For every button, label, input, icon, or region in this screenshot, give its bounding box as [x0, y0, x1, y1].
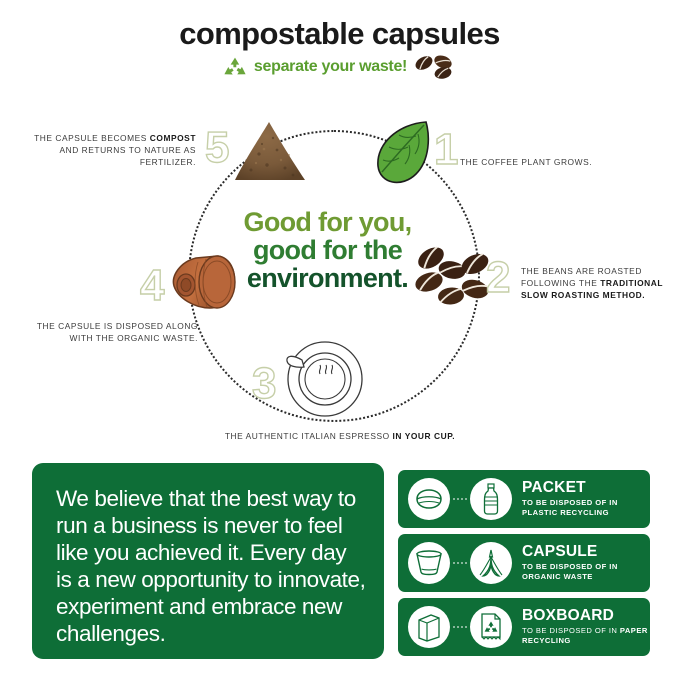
box-icon: [408, 606, 450, 648]
quote-card: We believe that the best way to run a bu…: [32, 463, 384, 659]
disposal-text-boxboard: BOXBOARD TO BE DISPOSED OF IN PAPER RECY…: [522, 608, 650, 646]
disposal-title: BOXBOARD: [522, 608, 650, 624]
header-subtitle: separate your waste!: [254, 58, 407, 76]
disposal-subtitle: TO BE DISPOSED OF IN PLASTIC RECYCLING: [522, 498, 618, 518]
header: compostable capsules separate your waste…: [0, 18, 679, 80]
disposal-icons-packet: [408, 478, 512, 520]
step-5-caption-pre: THE CAPSULE BECOMES: [34, 133, 150, 143]
step-4-caption: THE CAPSULE IS DISPOSED ALONG WITH THE O…: [18, 320, 198, 344]
step-5-caption-bold: COMPOST: [150, 133, 196, 143]
quote-text: We believe that the best way to run a bu…: [56, 485, 366, 647]
disposal-subtitle-line2: PLASTIC RECYCLING: [522, 508, 609, 517]
step-number-5: 5: [205, 126, 229, 170]
recycle-icon: [222, 56, 248, 78]
disposal-title: PACKET: [522, 480, 618, 496]
disposal-icons-capsule: [408, 542, 512, 584]
cycle-step-3: 3: [252, 338, 367, 423]
disposal-subtitle-line1: TO BE DISPOSED OF IN: [522, 626, 620, 635]
capsule-icon: [168, 252, 240, 314]
dotted-connector: [452, 626, 468, 628]
step-number-4: 4: [140, 264, 164, 308]
step-2-caption: THE BEANS ARE ROASTED FOLLOWING THE TRAD…: [521, 265, 671, 302]
leaf-icon: [372, 118, 434, 188]
page-title: compostable capsules: [0, 18, 679, 49]
header-subtitle-row: separate your waste!: [0, 54, 679, 80]
infographic-page: compostable capsules separate your waste…: [0, 0, 679, 679]
slogan-line-2: good for the: [230, 236, 425, 264]
slogan-line-3: environment.: [230, 264, 425, 292]
disposal-subtitle: TO BE DISPOSED OF IN PAPER RECYCLING: [522, 626, 650, 646]
capsule-cup-icon: [408, 542, 450, 584]
step-number-1: 1: [434, 128, 458, 172]
disposal-text-packet: PACKET TO BE DISPOSED OF IN PLASTIC RECY…: [522, 480, 618, 518]
plastic-bottle-icon: [470, 478, 512, 520]
disposal-subtitle-line1: TO BE DISPOSED OF IN: [522, 498, 618, 507]
cycle-step-2: 2: [412, 240, 517, 320]
disposal-card-capsule[interactable]: CAPSULE TO BE DISPOSED OF IN ORGANIC WAS…: [398, 534, 650, 592]
paper-recycling-icon: [470, 606, 512, 648]
dotted-connector: [452, 562, 468, 564]
dotted-connector: [452, 498, 468, 500]
banana-peel-icon: [470, 542, 512, 584]
disposal-icons-boxboard: [408, 606, 512, 648]
step-5-caption: THE CAPSULE BECOMES COMPOST AND RETURNS …: [18, 132, 196, 169]
disposal-title: CAPSULE: [522, 544, 618, 560]
step-5-caption-post: AND RETURNS TO NATURE AS FERTILIZER.: [59, 145, 196, 167]
espresso-cup-icon: [282, 338, 364, 420]
cycle-step-1: 1: [372, 118, 462, 193]
step-3-caption-bold: IN YOUR CUP.: [393, 431, 456, 441]
disposal-subtitle-line1: TO BE DISPOSED OF IN: [522, 562, 618, 571]
disposal-subtitle-line2: ORGANIC WASTE: [522, 572, 593, 581]
step-3-caption-pre: THE AUTHENTIC ITALIAN ESPRESSO: [225, 431, 393, 441]
step-1-caption: THE COFFEE PLANT GROWS.: [460, 156, 640, 168]
center-slogan: Good for you, good for the environment.: [230, 208, 425, 292]
disposal-card-boxboard[interactable]: BOXBOARD TO BE DISPOSED OF IN PAPER RECY…: [398, 598, 650, 656]
disposal-subtitle: TO BE DISPOSED OF IN ORGANIC WASTE: [522, 562, 618, 582]
step-4-caption-pre: THE CAPSULE IS DISPOSED ALONG WITH THE O…: [37, 321, 198, 343]
step-number-2: 2: [486, 256, 510, 300]
compost-mound-icon: [231, 120, 309, 186]
slogan-line-1: Good for you,: [230, 208, 425, 236]
lifecycle-diagram: Good for you, good for the environment. …: [0, 100, 679, 455]
disposal-card-packet[interactable]: PACKET TO BE DISPOSED OF IN PLASTIC RECY…: [398, 470, 650, 528]
cycle-step-4: 4: [140, 248, 245, 323]
step-number-3: 3: [252, 362, 276, 406]
coffee-packet-icon: [408, 478, 450, 520]
cycle-step-5: 5: [205, 114, 310, 189]
step-1-caption-pre: THE COFFEE PLANT GROWS.: [460, 157, 592, 167]
step-3-caption: THE AUTHENTIC ITALIAN ESPRESSO IN YOUR C…: [180, 430, 500, 442]
disposal-text-capsule: CAPSULE TO BE DISPOSED OF IN ORGANIC WAS…: [522, 544, 618, 582]
coffee-beans-icon: [413, 54, 457, 80]
